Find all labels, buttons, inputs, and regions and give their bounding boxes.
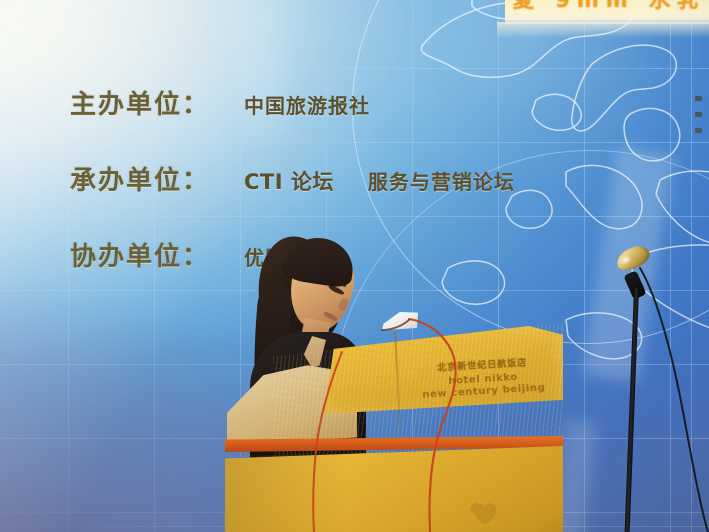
photo-canvas: 夏 9mm 水乳 主办单位： 中国旅游报社 承办单位： CTI 论坛 服务与营销… xyxy=(0,0,709,532)
film-grain xyxy=(0,0,709,532)
